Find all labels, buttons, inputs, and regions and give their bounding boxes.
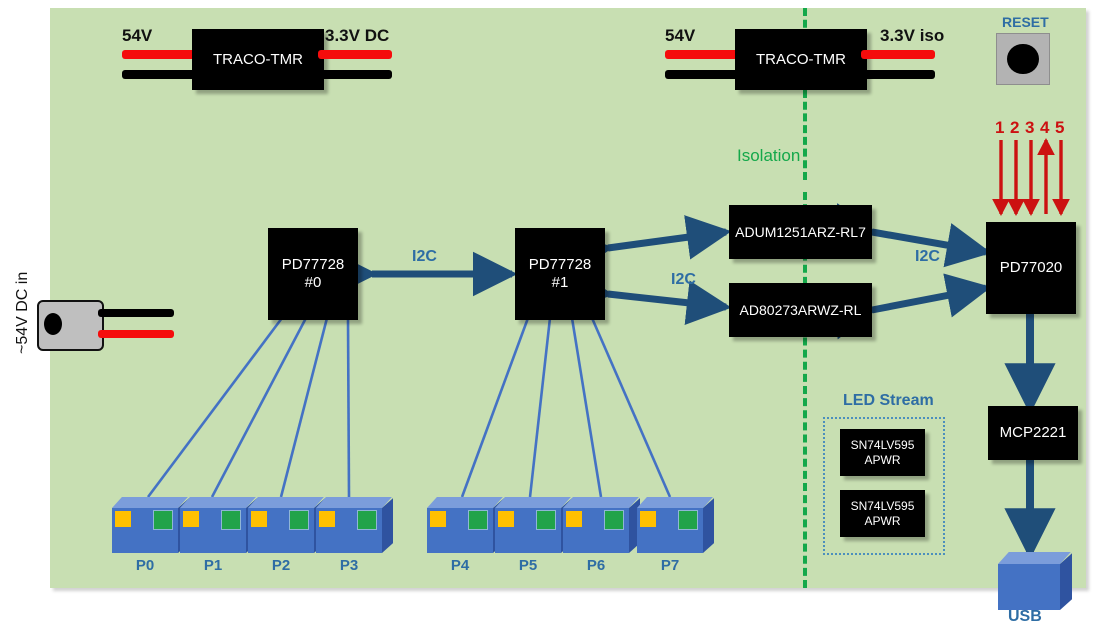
port-p0-top <box>112 497 188 508</box>
chip-sn74lv595-1-line1: SN74LV595 <box>851 438 915 452</box>
port-p3-top <box>316 497 392 508</box>
converter-1-output-label: 3.3V iso <box>880 26 944 46</box>
chip-sn74lv595-2-line2: APWR <box>865 514 901 528</box>
converter-1-input-wire-black <box>665 70 739 79</box>
port-p3-label: P3 <box>316 557 382 574</box>
chip-pd77728-0: PD77728 #0 <box>268 228 358 320</box>
dc-wire-black <box>98 309 174 317</box>
chip-pd77020: PD77020 <box>986 222 1076 314</box>
port-p6-top <box>563 497 639 508</box>
led-stream-title: LED Stream <box>843 392 934 410</box>
port-p5-led-amber <box>498 511 514 527</box>
port-p2-led-amber <box>251 511 267 527</box>
port-p3-led-green <box>357 510 377 530</box>
signal-number-4: 4 <box>1040 118 1049 138</box>
block-diagram-canvas: Isolation ~54V DC in 54V TRACO-TMR 3.3V … <box>0 0 1100 630</box>
chip-pd77020-label: PD77020 <box>1000 259 1063 277</box>
chip-ad80273arwz-rl: AD80273ARWZ-RL <box>729 283 872 337</box>
usb-connector-front <box>998 564 1060 610</box>
chip-pd77728-1-line1: PD77728 <box>529 256 592 274</box>
converter-0-output-wire-black <box>318 70 392 79</box>
port-p6-led-green <box>604 510 624 530</box>
port-p1-led-green <box>221 510 241 530</box>
chip-pd77728-1: PD77728 #1 <box>515 228 605 320</box>
port-p7-top <box>637 497 713 508</box>
port-p1-top <box>180 497 256 508</box>
chip-sn74lv595-1: SN74LV595 APWR <box>840 429 925 476</box>
chip-traco-1: TRACO-TMR <box>735 29 867 90</box>
port-p6-label: P6 <box>563 557 629 574</box>
converter-1-input-label: 54V <box>665 26 695 46</box>
dc-wire-red <box>98 330 174 338</box>
converter-0-output-wire-red <box>318 50 392 59</box>
chip-traco-0-label: TRACO-TMR <box>213 51 303 69</box>
reset-label: RESET <box>1002 14 1049 30</box>
converter-0-input-wire-red <box>122 50 196 59</box>
port-p4-led-amber <box>430 511 446 527</box>
label-i2c-pse0-pse1: I2C <box>412 248 437 266</box>
chip-ad80273arwz-rl-label: AD80273ARWZ-RL <box>740 302 862 319</box>
port-p5-top <box>495 497 571 508</box>
port-p6-led-amber <box>566 511 582 527</box>
port-p4-top <box>427 497 503 508</box>
reset-button[interactable] <box>996 33 1050 85</box>
usb-connector-side <box>1060 553 1072 610</box>
port-p0-label: P0 <box>112 557 178 574</box>
chip-pd77728-1-line2: #1 <box>552 274 569 292</box>
chip-sn74lv595-1-line2: APWR <box>865 453 901 467</box>
port-p2-led-green <box>289 510 309 530</box>
chip-traco-1-label: TRACO-TMR <box>756 51 846 69</box>
port-p0-led-amber <box>115 511 131 527</box>
port-p4-led-green <box>468 510 488 530</box>
converter-1-output-wire-red <box>861 50 935 59</box>
chip-pd77728-0-line1: PD77728 <box>282 256 345 274</box>
chip-sn74lv595-2: SN74LV595 APWR <box>840 490 925 537</box>
port-p0-led-green <box>153 510 173 530</box>
converter-1-output-wire-black <box>861 70 935 79</box>
chip-mcp2221-label: MCP2221 <box>1000 424 1067 442</box>
chip-adum1251arz-rl7: ADUM1251ARZ-RL7 <box>729 205 872 259</box>
usb-label: USB <box>1008 608 1042 626</box>
isolation-label: Isolation <box>737 146 800 166</box>
port-p7-led-green <box>678 510 698 530</box>
signal-number-2: 2 <box>1010 118 1019 138</box>
dc-input-label: ~54V DC in <box>14 264 32 354</box>
chip-pd77728-0-line2: #0 <box>305 274 322 292</box>
chip-adum1251arz-rl7-label: ADUM1251ARZ-RL7 <box>735 224 866 241</box>
port-p3-led-amber <box>319 511 335 527</box>
converter-0-input-wire-black <box>122 70 196 79</box>
converter-0-output-label: 3.3V DC <box>325 26 389 46</box>
port-p5-led-green <box>536 510 556 530</box>
port-p2-top <box>248 497 324 508</box>
port-p1-led-amber <box>183 511 199 527</box>
chip-traco-0: TRACO-TMR <box>192 29 324 90</box>
dc-jack-hole <box>44 313 62 335</box>
signal-number-1: 1 <box>995 118 1004 138</box>
converter-0-input-label: 54V <box>122 26 152 46</box>
label-i2c-isolators-controller: I2C <box>915 248 940 266</box>
converter-1-input-wire-red <box>665 50 739 59</box>
label-i2c-pse1-data-isolator: I2C <box>671 271 696 289</box>
signal-number-5: 5 <box>1055 118 1064 138</box>
port-p7-label: P7 <box>637 557 703 574</box>
usb-connector-top <box>998 552 1071 564</box>
port-p5-label: P5 <box>495 557 561 574</box>
port-p4-label: P4 <box>427 557 493 574</box>
port-p1-label: P1 <box>180 557 246 574</box>
chip-mcp2221: MCP2221 <box>988 406 1078 460</box>
port-p2-label: P2 <box>248 557 314 574</box>
reset-button-dot <box>1007 44 1038 74</box>
signal-number-3: 3 <box>1025 118 1034 138</box>
port-p7-led-amber <box>640 511 656 527</box>
chip-sn74lv595-2-line1: SN74LV595 <box>851 499 915 513</box>
